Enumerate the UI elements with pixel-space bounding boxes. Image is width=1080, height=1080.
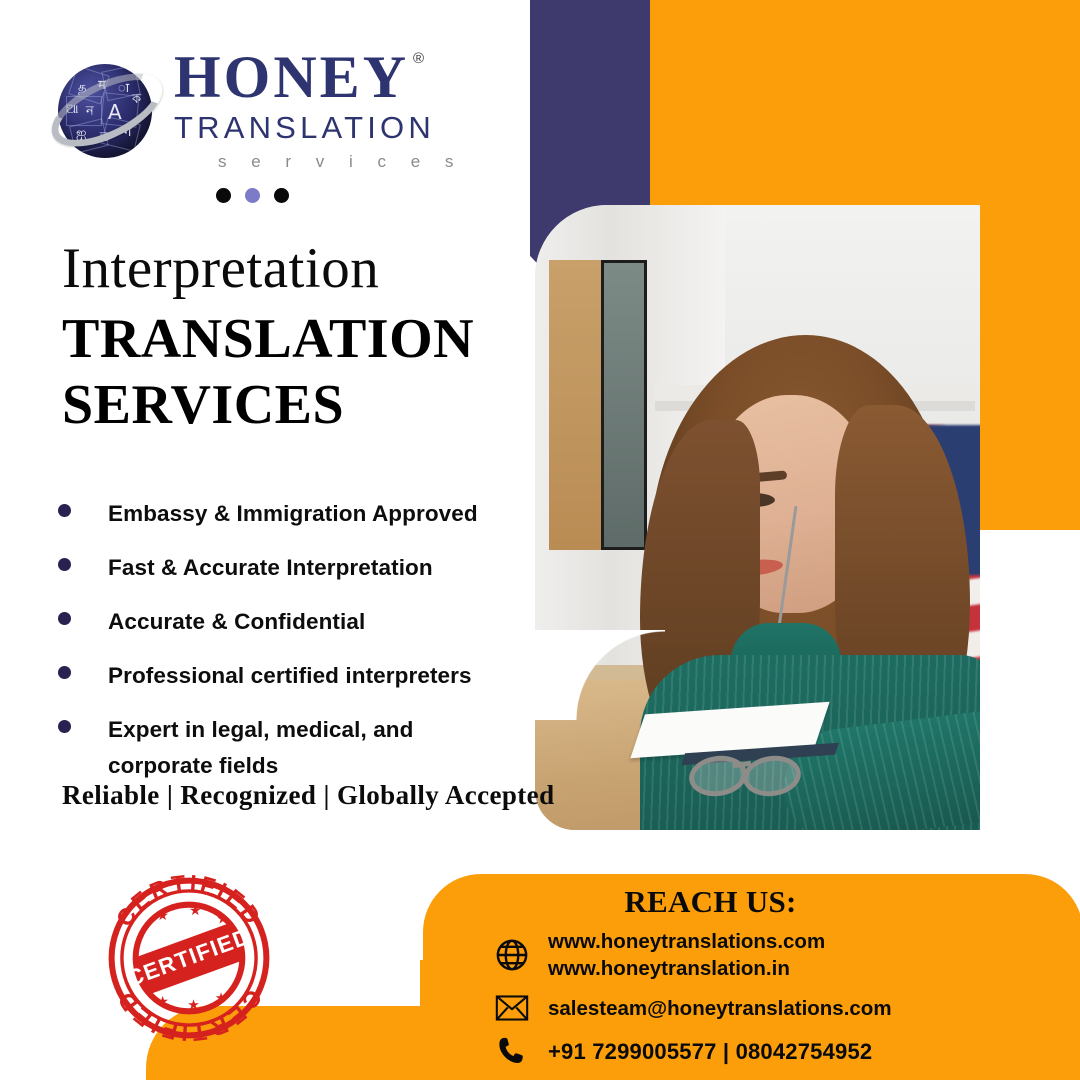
photo-cabinet-door bbox=[549, 260, 601, 550]
svg-text:★: ★ bbox=[156, 994, 168, 1009]
logo-line-services: s e r v i c e s bbox=[218, 152, 463, 172]
brand-logo[interactable]: த म ा ক ଆ A ন ஐ ভ ग bbox=[52, 48, 463, 203]
logo-brand-name: HONEY bbox=[174, 48, 409, 107]
list-item-label: Accurate & Confidential bbox=[108, 604, 365, 640]
logo-dot-row bbox=[216, 188, 463, 203]
list-item: Accurate & Confidential bbox=[58, 604, 528, 640]
contact-email[interactable]: salesteam@honeytranslations.com bbox=[548, 995, 892, 1022]
svg-text:★: ★ bbox=[217, 912, 229, 927]
list-item-label: Expert in legal, medical, and corporate … bbox=[108, 712, 458, 784]
logo-row: த म ा ক ଆ A ন ஐ ভ ग bbox=[52, 48, 463, 172]
bullet-icon bbox=[58, 666, 71, 679]
list-item: Embassy & Immigration Approved bbox=[58, 496, 528, 532]
contact-row-website[interactable]: www.honeytranslations.com www.honeytrans… bbox=[492, 928, 892, 982]
contact-row-email[interactable]: salesteam@honeytranslations.com bbox=[492, 993, 892, 1023]
list-item: Fast & Accurate Interpretation bbox=[58, 550, 528, 586]
poster-canvas: த म ा ক ଆ A ন ஐ ভ ग bbox=[0, 0, 1080, 1080]
bullet-icon bbox=[58, 504, 71, 517]
logo-dot-3 bbox=[274, 188, 289, 203]
list-item: Professional certified interpreters bbox=[58, 658, 528, 694]
contact-website-2[interactable]: www.honeytranslation.in bbox=[548, 955, 825, 982]
svg-text:★: ★ bbox=[156, 908, 168, 923]
logo-dot-1 bbox=[216, 188, 231, 203]
contact-website-group: www.honeytranslations.com www.honeytrans… bbox=[532, 928, 825, 982]
list-item-label: Embassy & Immigration Approved bbox=[108, 496, 478, 532]
envelope-icon bbox=[492, 993, 532, 1023]
contact-heading: REACH US: bbox=[423, 884, 998, 920]
bullet-icon bbox=[58, 720, 71, 733]
certified-stamp-icon: CERTIFIED CERTIFIED CERTIFIED ★ ★ ★ ★ ★ … bbox=[103, 872, 275, 1044]
svg-text:★: ★ bbox=[189, 903, 201, 918]
photo-concave-notch bbox=[535, 630, 665, 720]
contact-details: www.honeytranslations.com www.honeytrans… bbox=[492, 928, 892, 1079]
registered-trademark-icon: ® bbox=[413, 50, 424, 67]
contact-row-phone[interactable]: +91 7299005577 | 08042754952 bbox=[492, 1034, 892, 1068]
photo-eyeglasses bbox=[685, 750, 835, 794]
photo-eyeglasses-bridge bbox=[733, 761, 752, 768]
phone-icon bbox=[492, 1034, 532, 1068]
list-item-label: Fast & Accurate Interpretation bbox=[108, 550, 433, 586]
bullet-icon bbox=[58, 612, 71, 625]
globe-icon: த म ा ক ଆ A ন ஐ ভ ग bbox=[52, 56, 160, 164]
logo-dot-2 bbox=[245, 188, 260, 203]
headline-main-line-2: SERVICES bbox=[62, 372, 474, 438]
logo-line-translation: TRANSLATION bbox=[174, 110, 463, 146]
contact-website-1[interactable]: www.honeytranslations.com bbox=[548, 928, 825, 955]
svg-text:★: ★ bbox=[215, 991, 227, 1006]
hero-photo bbox=[535, 205, 980, 830]
svg-text:★: ★ bbox=[187, 998, 199, 1013]
headline-main: TRANSLATION SERVICES bbox=[62, 306, 474, 438]
headline-main-line-1: TRANSLATION bbox=[62, 306, 474, 372]
feature-list: Embassy & Immigration Approved Fast & Ac… bbox=[58, 496, 528, 802]
hero-photo-image bbox=[535, 205, 980, 830]
logo-brand-line: HONEY ® bbox=[174, 48, 463, 107]
photo-cabinet-glass bbox=[601, 260, 647, 550]
logo-wordmark: HONEY ® TRANSLATION s e r v i c e s bbox=[174, 48, 463, 172]
list-item-label: Professional certified interpreters bbox=[108, 658, 472, 694]
globe-icon bbox=[492, 938, 532, 972]
contact-phone-numbers[interactable]: +91 7299005577 | 08042754952 bbox=[548, 1037, 872, 1066]
tagline: Reliable | Recognized | Globally Accepte… bbox=[62, 780, 555, 811]
list-item: Expert in legal, medical, and corporate … bbox=[58, 712, 528, 784]
headline-script: Interpretation bbox=[62, 236, 379, 301]
bullet-icon bbox=[58, 558, 71, 571]
